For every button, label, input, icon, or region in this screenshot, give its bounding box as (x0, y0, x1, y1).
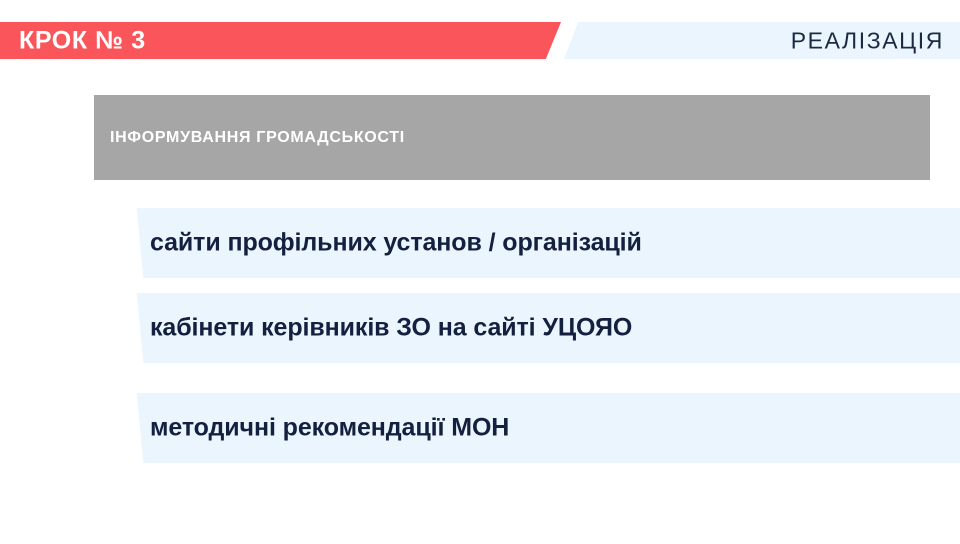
step-label: КРОК № 3 (19, 28, 146, 53)
list-item-label: сайти профільних установ / організацій (150, 231, 642, 256)
list-item: методичні рекомендації МОН (133, 393, 960, 463)
list-item: сайти профільних установ / організацій (133, 208, 960, 278)
slide: КРОК № 3 РЕАЛІЗАЦІЯ ІНФОРМУВАННЯ ГРОМАДС… (0, 0, 960, 544)
list-item-label: кабінети керівників ЗО на сайті УЦОЯО (150, 316, 632, 341)
step-banner: КРОК № 3 (0, 22, 561, 59)
phase-label: РЕАЛІЗАЦІЯ (791, 29, 944, 52)
slide-header: КРОК № 3 РЕАЛІЗАЦІЯ (0, 22, 960, 59)
section-header-box: ІНФОРМУВАННЯ ГРОМАДСЬКОСТІ (94, 95, 930, 180)
section-title: ІНФОРМУВАННЯ ГРОМАДСЬКОСТІ (110, 130, 405, 146)
list-item-label: методичні рекомендації МОН (150, 416, 509, 441)
list-item: кабінети керівників ЗО на сайті УЦОЯО (133, 293, 960, 363)
phase-banner: РЕАЛІЗАЦІЯ (564, 22, 960, 59)
